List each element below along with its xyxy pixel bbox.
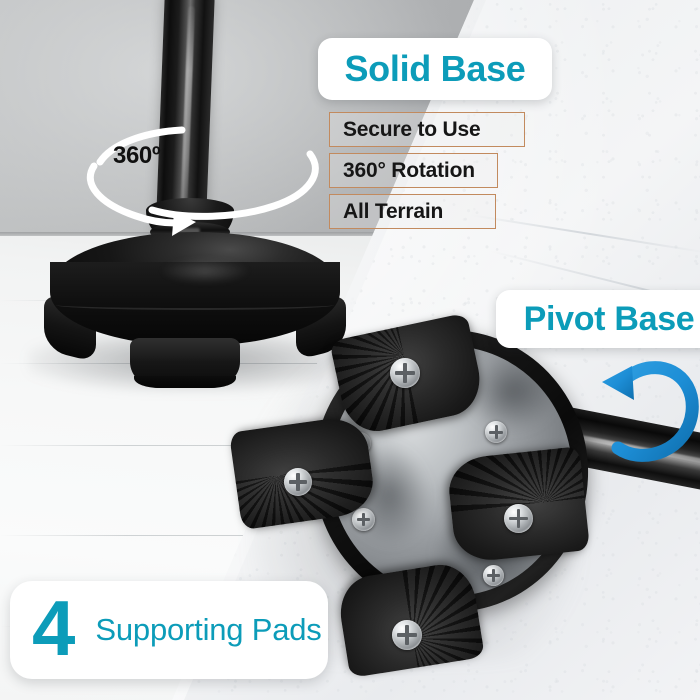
pad-screw	[504, 504, 533, 533]
pads-label: Supporting Pads	[95, 612, 321, 648]
pivot-base-callout: Pivot Base	[496, 290, 700, 348]
solid-base-highlight	[160, 258, 250, 284]
pivot-base-title: Pivot Base	[524, 300, 695, 339]
solid-base-title: Solid Base	[344, 48, 525, 90]
solid-base-callout: Solid Base	[318, 38, 552, 100]
pads-count: 4	[32, 589, 75, 667]
solid-base-foot-front-lip	[134, 376, 236, 388]
solid-base-rim-edge	[56, 300, 334, 310]
rotation-label: 360º	[113, 142, 160, 170]
plate-screw	[352, 508, 375, 531]
plate-screw	[483, 565, 504, 586]
plate-screw	[485, 421, 507, 443]
infographic-canvas: 360º	[0, 0, 700, 700]
feature-item-all-terrain: All Terrain	[329, 194, 496, 229]
rotation-annotation: 360º	[78, 124, 328, 242]
pad-screw	[284, 468, 312, 496]
pad-screw	[392, 620, 422, 650]
feature-item-secure-to-use: Secure to Use	[329, 112, 525, 147]
pad-screw	[390, 358, 420, 388]
loop-arrow-icon	[592, 352, 700, 470]
supporting-pads-badge: 4 Supporting Pads	[10, 581, 328, 679]
feature-item-360-rotation: 360° Rotation	[329, 153, 498, 188]
